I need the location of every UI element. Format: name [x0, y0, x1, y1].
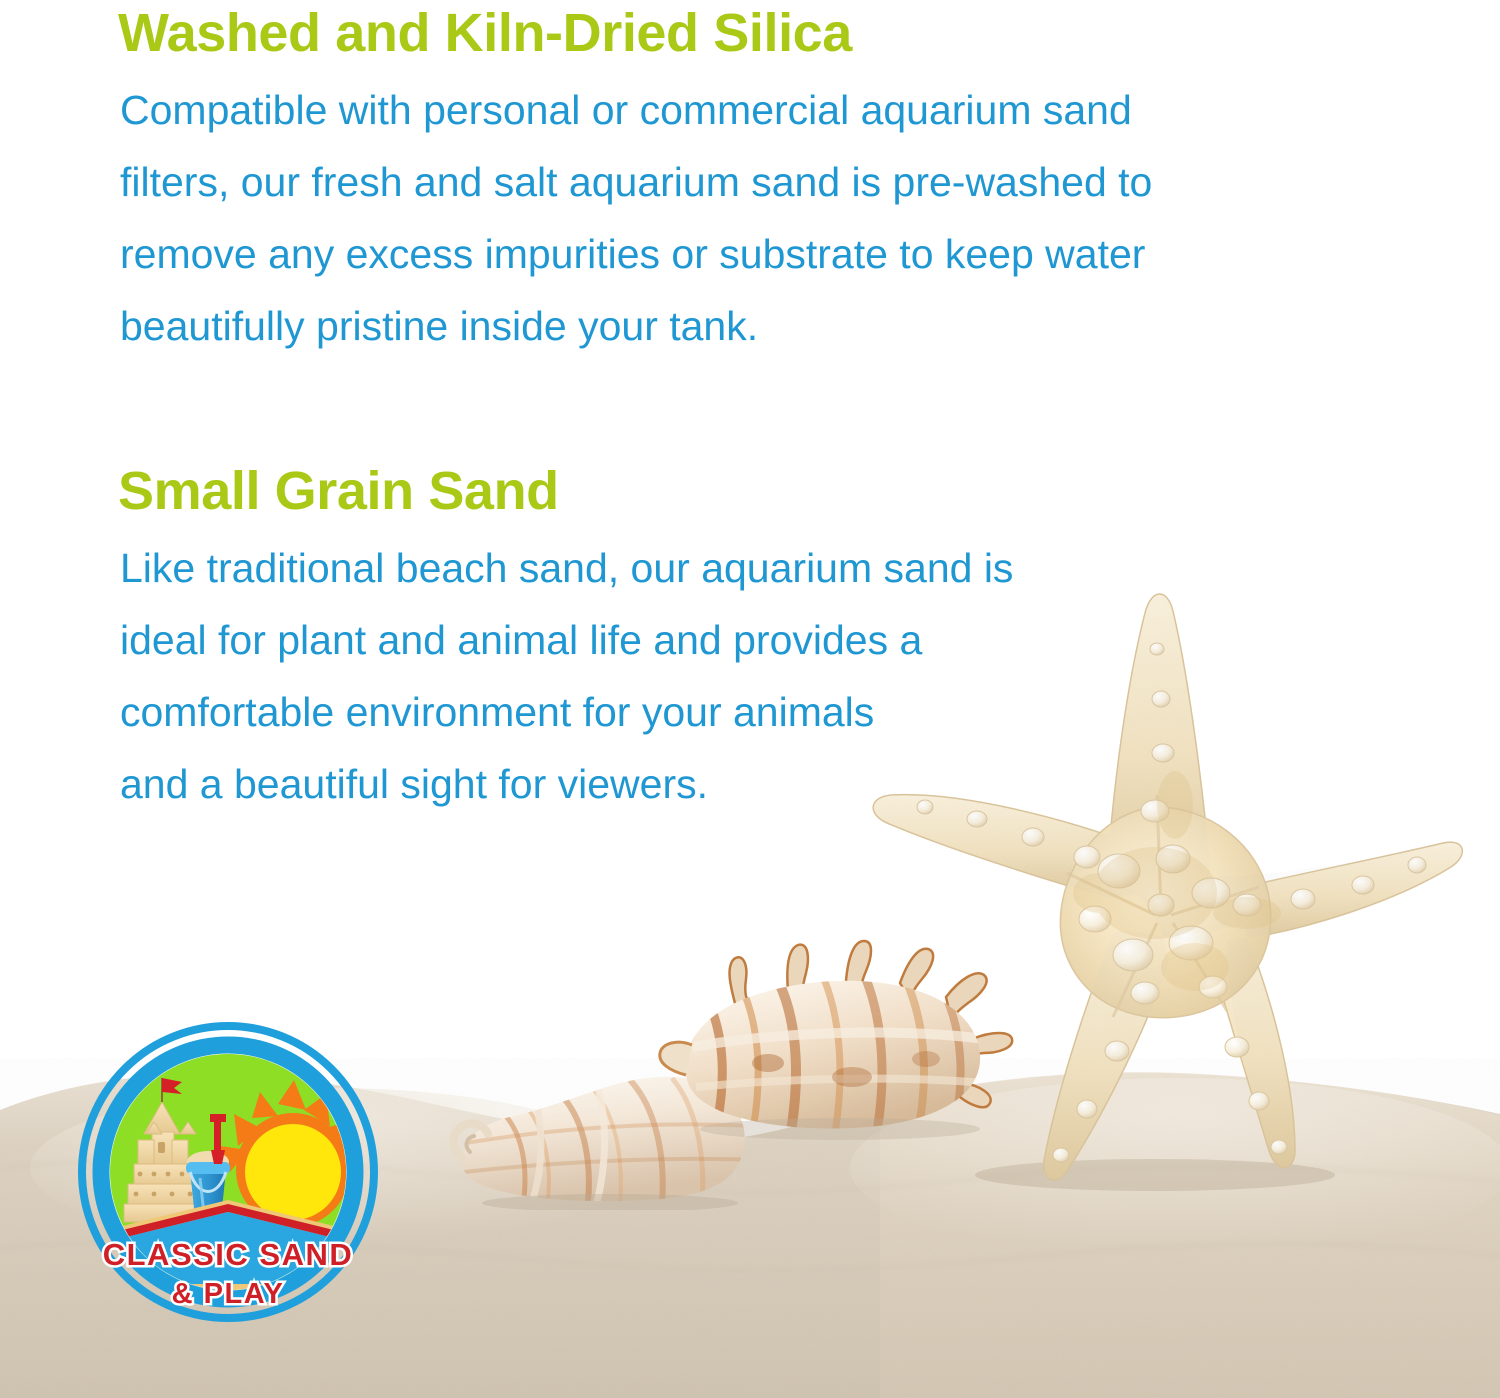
section-1-line-1: Compatible with personal or commercial a… — [120, 74, 1350, 146]
product-infographic: Washed and Kiln-Dried Silica Compatible … — [0, 0, 1500, 1398]
logo-brand-line-1: CLASSIC SAND — [103, 1237, 354, 1272]
section-1-line-4: beautifully pristine inside your tank. — [120, 290, 1350, 362]
section-1-line-3: remove any excess impurities or substrat… — [120, 218, 1350, 290]
section-1-heading: Washed and Kiln-Dried Silica — [118, 2, 1358, 64]
section-1: Washed and Kiln-Dried Silica Compatible … — [118, 0, 1358, 362]
section-2-line-2: ideal for plant and animal life and prov… — [120, 604, 1350, 676]
section-1-line-2: filters, our fresh and salt aquarium san… — [120, 146, 1350, 218]
logo-brand-line-2: & PLAY — [172, 1278, 285, 1310]
copy-block: Washed and Kiln-Dried Silica Compatible … — [118, 0, 1358, 820]
classic-sand-and-play-logo[interactable]: CLASSIC SAND & PLAY — [78, 1022, 378, 1322]
section-2-paragraph: Like traditional beach sand, our aquariu… — [120, 532, 1350, 820]
section-1-paragraph: Compatible with personal or commercial a… — [120, 74, 1350, 362]
section-2-heading: Small Grain Sand — [118, 460, 1358, 522]
section-2: Small Grain Sand Like traditional beach … — [118, 362, 1358, 820]
section-2-line-1: Like traditional beach sand, our aquariu… — [120, 532, 1350, 604]
section-2-line-4: and a beautiful sight for viewers. — [120, 748, 1350, 820]
section-2-line-3: comfortable environment for your animals — [120, 676, 1350, 748]
